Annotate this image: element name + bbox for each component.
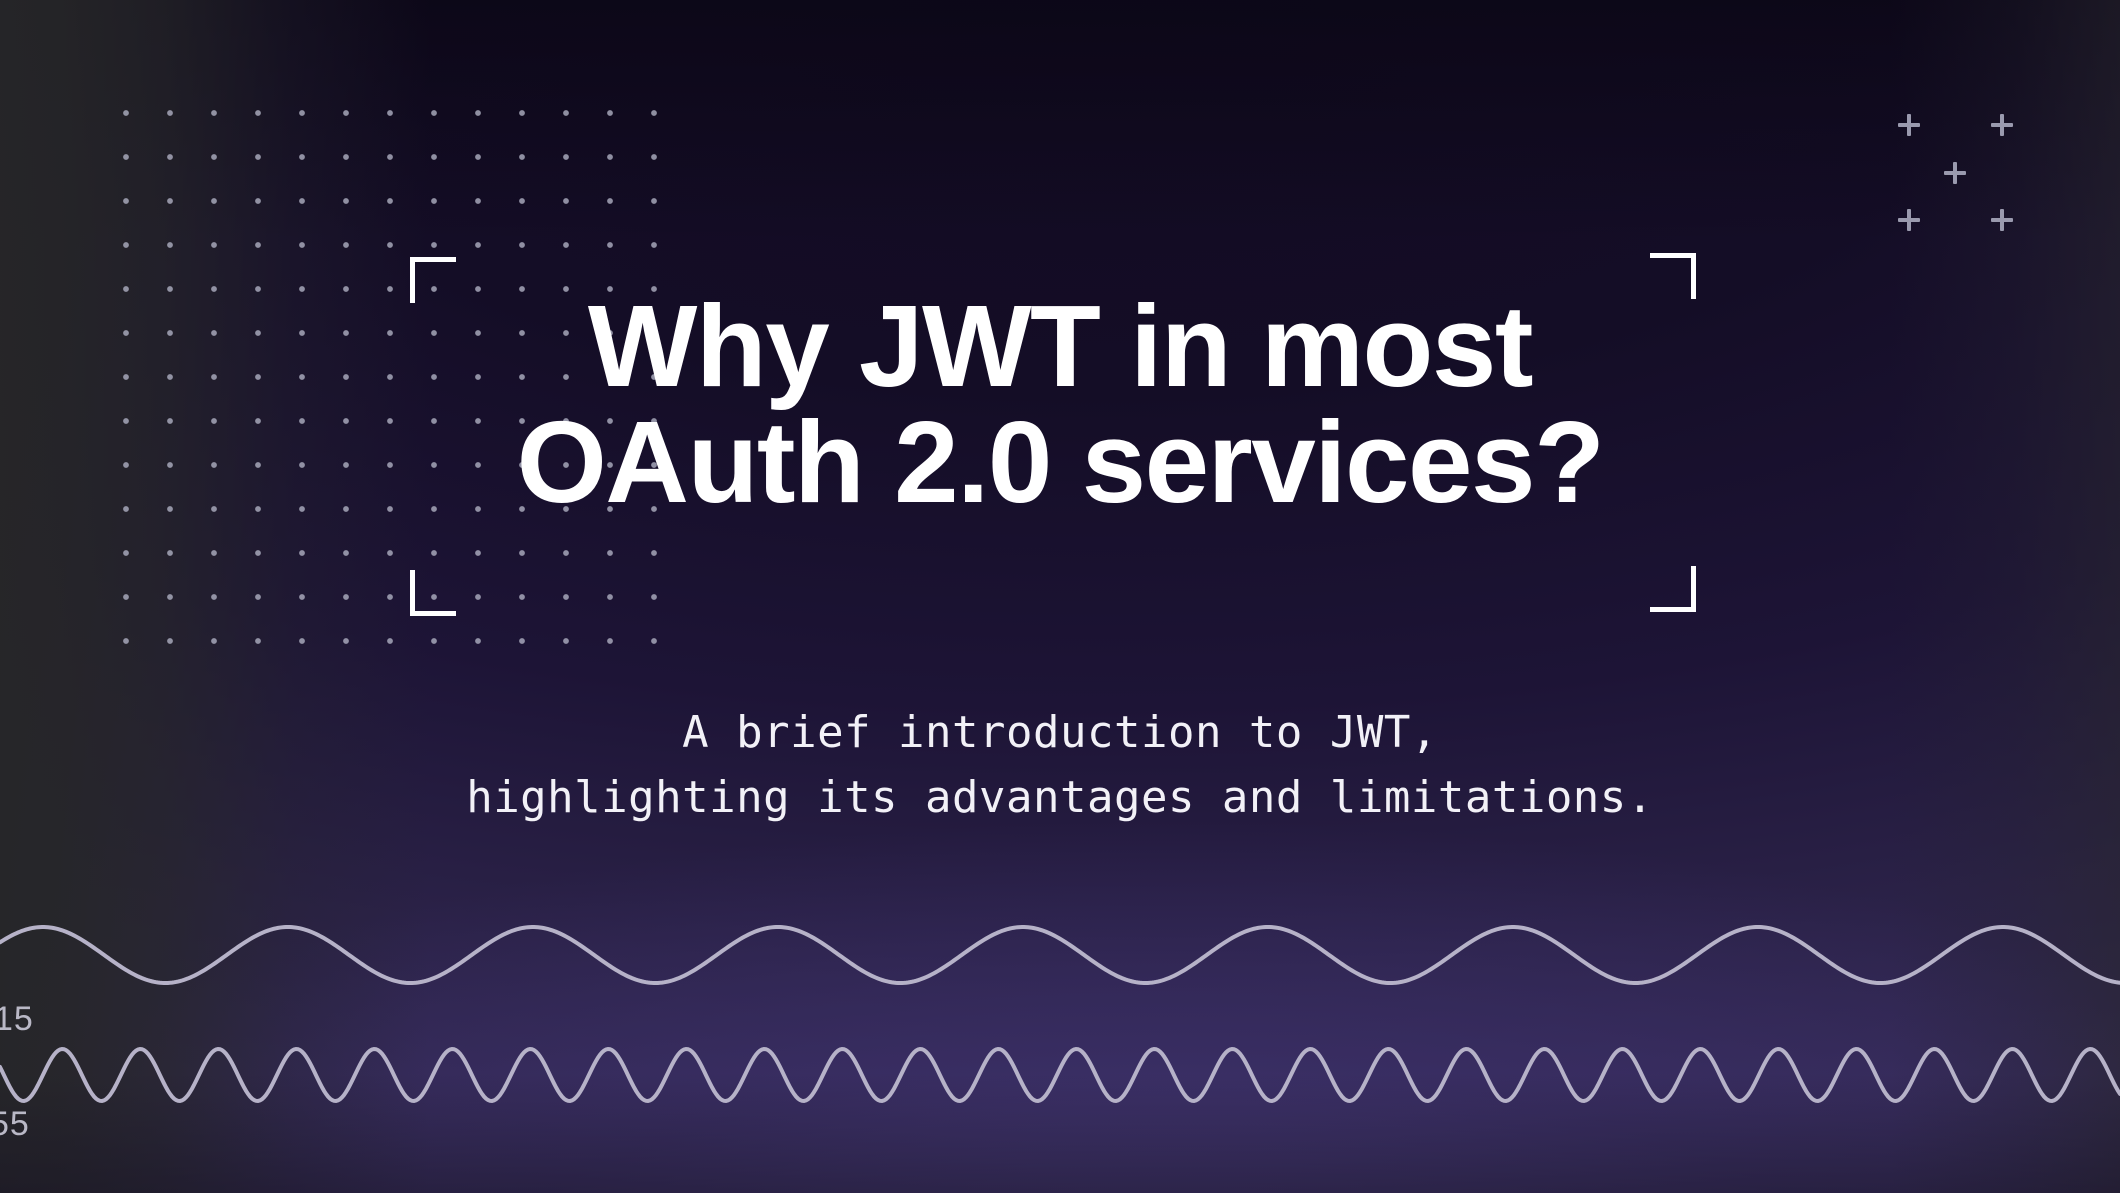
plus-mark-icon-4	[1898, 209, 1920, 231]
plus-mark-icon-1	[1898, 114, 1920, 136]
background-vignette-bottom	[0, 1073, 2120, 1193]
background-vignette-right	[1890, 0, 2120, 1193]
plus-mark-icon-2	[1991, 114, 2013, 136]
plus-mark-icon-5	[1991, 209, 2013, 231]
presentation-slide: Why JWT in most OAuth 2.0 services? A br…	[0, 0, 2120, 1193]
corner-bracket-bottom-left-icon	[410, 570, 456, 616]
side-marker-bottom-number: 55	[0, 1105, 30, 1144]
plus-mark-icon-3	[1944, 162, 1966, 184]
corner-bracket-bottom-right-icon	[1650, 566, 1696, 612]
slide-subtitle: A brief introduction to JWT, highlightin…	[0, 700, 2120, 830]
side-marker-top-number: 15	[0, 1000, 34, 1039]
slide-title: Why JWT in most OAuth 2.0 services?	[0, 288, 2120, 520]
